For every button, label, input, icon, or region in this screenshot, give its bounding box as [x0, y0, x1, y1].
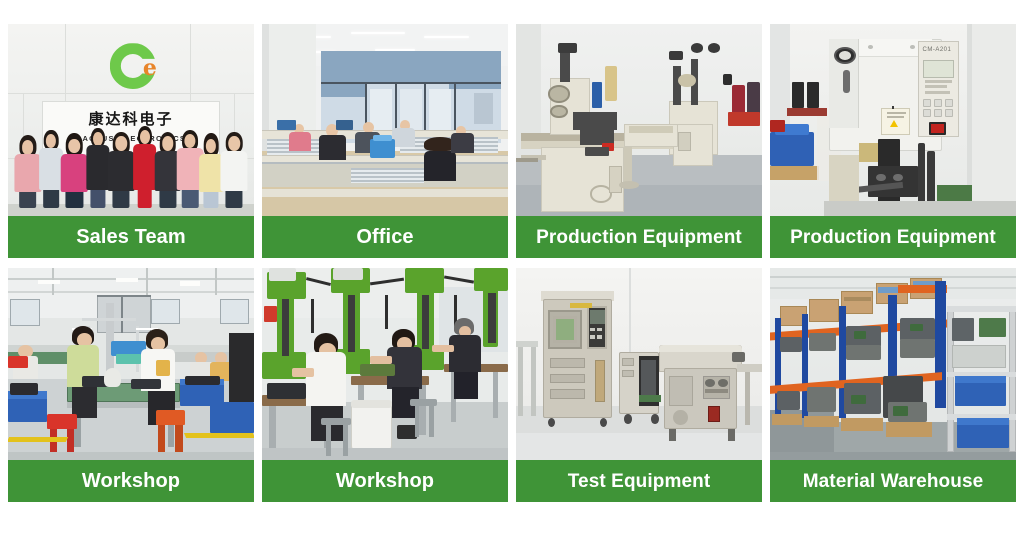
gallery-tile-sales-team[interactable]: e 康达科电子 CACTUS ELECTRONICS — [8, 24, 254, 258]
photo-test-equipment — [516, 268, 762, 460]
warning-label — [881, 108, 911, 135]
gallery-tile-production-equipment-2[interactable]: CM-A201 — [770, 24, 1016, 258]
tile-caption-material-warehouse: Material Warehouse — [770, 460, 1016, 502]
tile-caption-sales-team: Sales Team — [8, 216, 254, 258]
facility-photo-grid: e 康达科电子 CACTUS ELECTRONICS — [8, 24, 1016, 502]
photo-workshop-1 — [8, 268, 254, 460]
photo-workshop-2 — [262, 268, 508, 460]
tile-caption-production-equipment-2: Production Equipment — [770, 216, 1016, 258]
gallery-tile-workshop-2[interactable]: Workshop — [262, 268, 508, 502]
gallery-tile-office[interactable]: Office — [262, 24, 508, 258]
tile-caption-test-equipment: Test Equipment — [516, 460, 762, 502]
gallery-tile-production-equipment-1[interactable]: Production Equipment — [516, 24, 762, 258]
machine-model-label: CM-A201 — [923, 47, 955, 57]
power-button-icon — [929, 122, 946, 135]
tile-caption-workshop-2: Workshop — [262, 460, 508, 502]
company-logo-icon: e — [110, 43, 156, 89]
photo-material-warehouse — [770, 268, 1016, 460]
gallery-tile-test-equipment[interactable]: Test Equipment — [516, 268, 762, 502]
tile-caption-office: Office — [262, 216, 508, 258]
photo-production-equipment-1 — [516, 24, 762, 216]
gallery-tile-material-warehouse[interactable]: Material Warehouse — [770, 268, 1016, 502]
photo-sales-team: e 康达科电子 CACTUS ELECTRONICS — [8, 24, 254, 216]
photo-office — [262, 24, 508, 216]
photo-production-equipment-2: CM-A201 — [770, 24, 1016, 216]
gallery-tile-workshop-1[interactable]: Workshop — [8, 268, 254, 502]
tile-caption-production-equipment-1: Production Equipment — [516, 216, 762, 258]
tile-caption-workshop-1: Workshop — [8, 460, 254, 502]
